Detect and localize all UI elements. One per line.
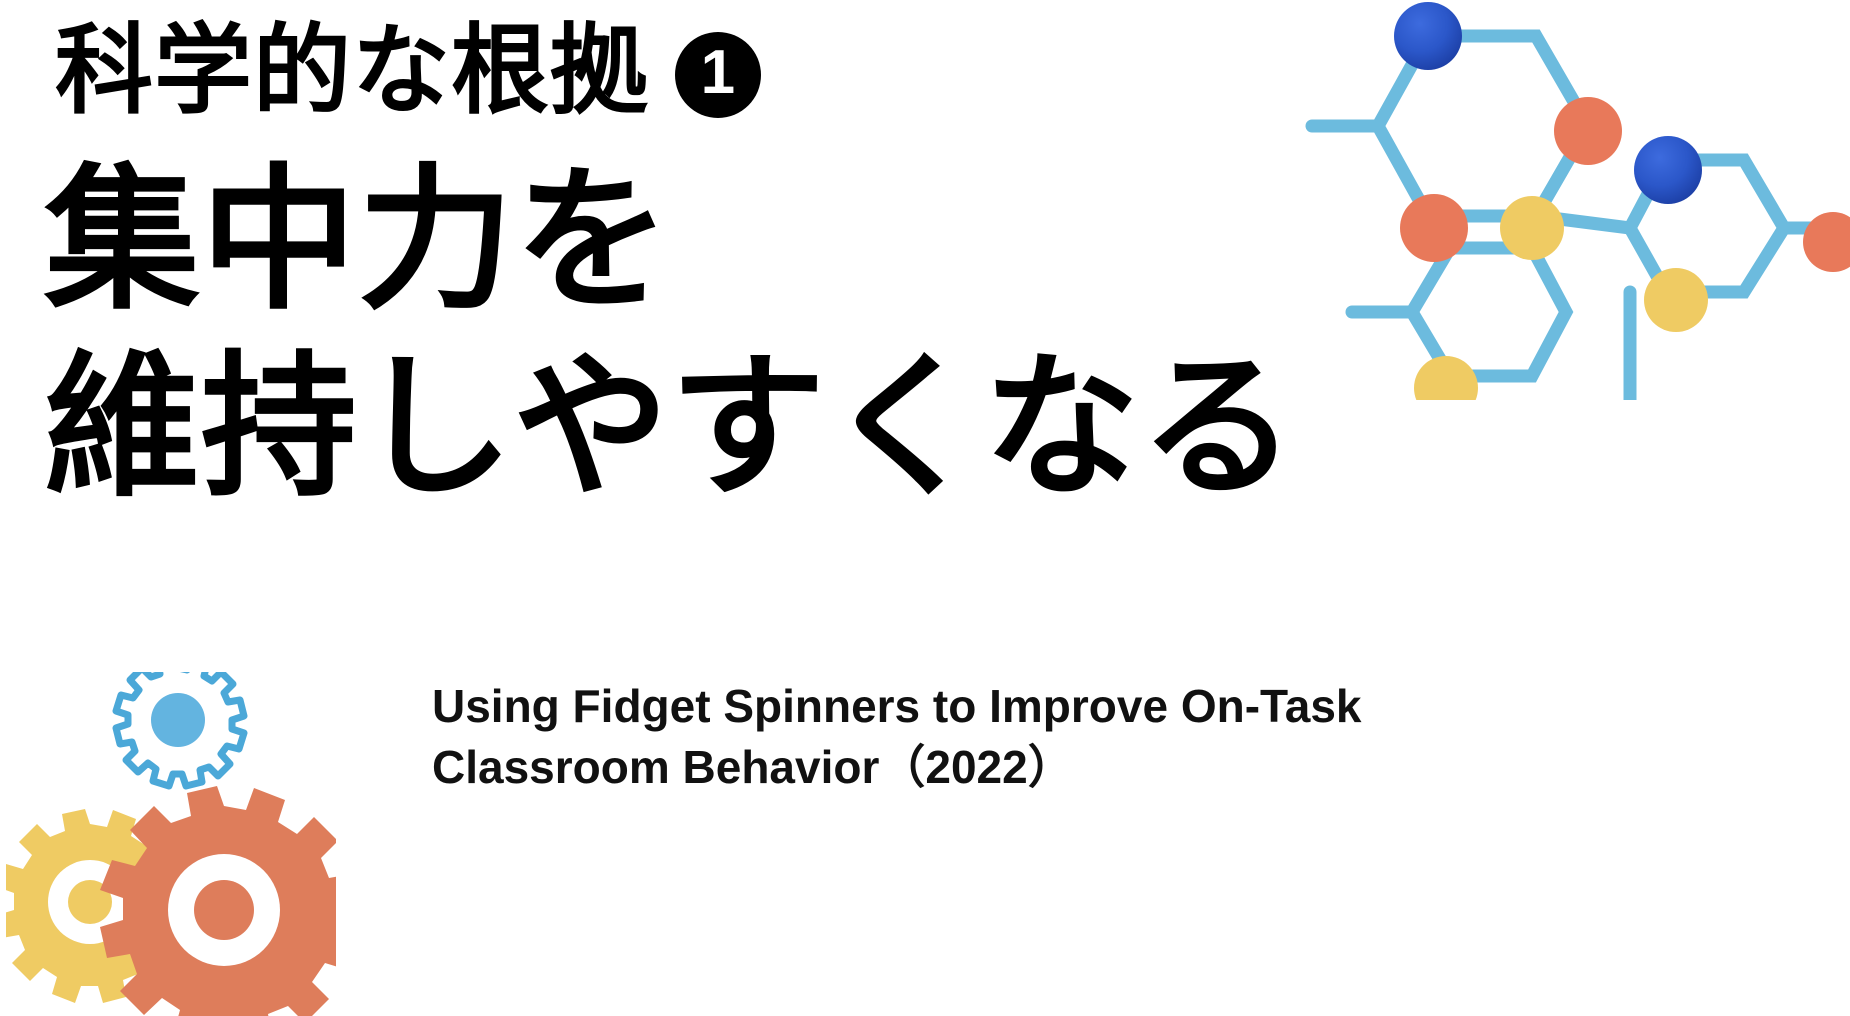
molecule-svg: [1300, 0, 1850, 400]
gear-blue-hub: [151, 693, 205, 747]
badge-number-label: 1: [701, 42, 735, 104]
subtitle-line-1: Using Fidget Spinners to Improve On-Task: [432, 676, 1452, 737]
atom-node-orange: [1554, 97, 1622, 165]
subtitle-block: Using Fidget Spinners to Improve On-Task…: [432, 676, 1452, 797]
molecule-illustration: [1300, 0, 1850, 400]
atom-node-yellow: [1500, 196, 1564, 260]
molecule-bonds: [1312, 36, 1836, 400]
atom-node-blue: [1634, 136, 1702, 204]
badge-number-one: 1: [675, 32, 761, 118]
headline-line-1: 集中力を: [44, 148, 1304, 335]
gear-orange-hub: [194, 880, 254, 940]
kicker-text: 科学的な根拠: [55, 18, 649, 124]
gear-blue-outline: [116, 672, 244, 786]
atom-node-yellow: [1644, 268, 1708, 332]
subtitle-line-2: Classroom Behavior（2022）: [432, 737, 1452, 798]
atom-node-orange: [1803, 212, 1850, 272]
atom-node-blue: [1394, 2, 1462, 70]
gears-illustration: [6, 672, 336, 1016]
atom-node-yellow: [1414, 356, 1478, 400]
headline-block: 集中力を 維持しやすくなる: [44, 148, 1304, 522]
slide-canvas: 科学的な根拠 1 集中力を 維持しやすくなる Using Fidget Spin…: [0, 0, 1850, 1016]
molecule-atoms: [1394, 2, 1850, 400]
headline-line-2: 維持しやすくなる: [44, 335, 1304, 522]
gears-svg: [6, 672, 336, 1016]
atom-node-orange: [1400, 194, 1468, 262]
kicker-line: 科学的な根拠 1: [55, 18, 761, 124]
